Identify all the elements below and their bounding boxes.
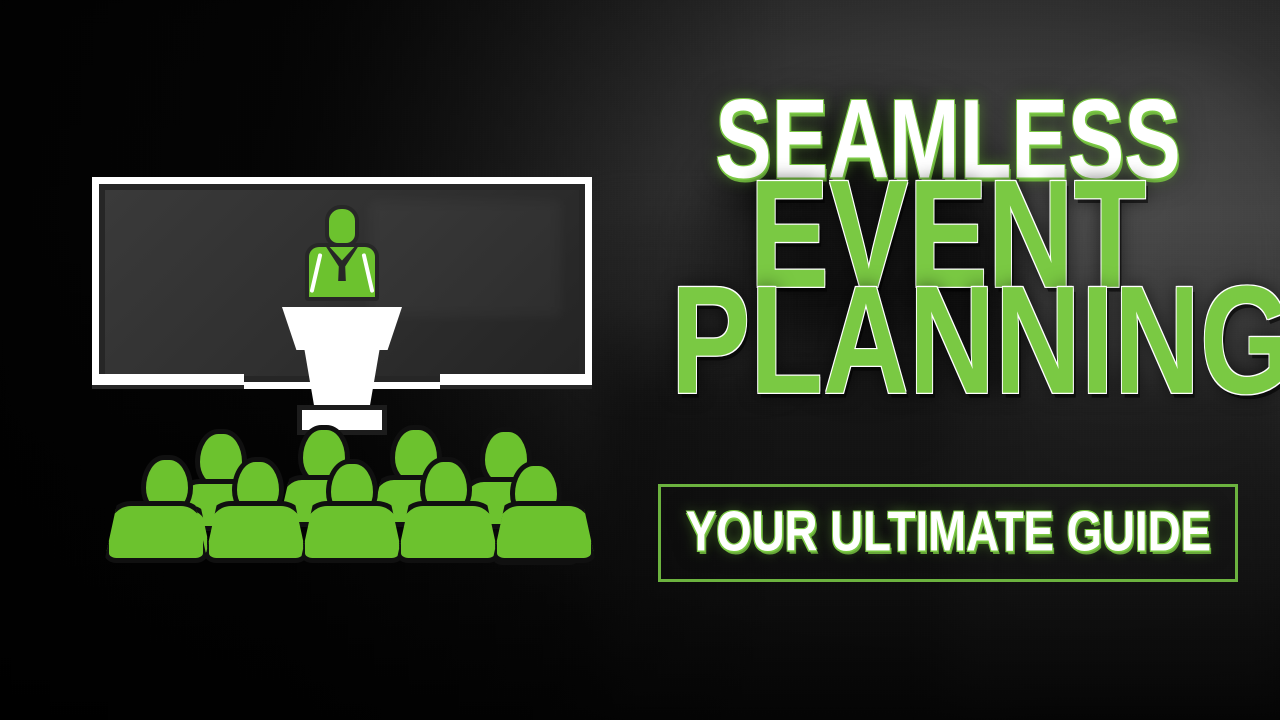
- speaker-figure: [299, 205, 385, 335]
- subtitle-frame: YOUR ULTIMATE GUIDE: [658, 484, 1238, 582]
- audience-body: [204, 501, 308, 563]
- audience-person: [104, 501, 208, 571]
- audience-body: [492, 501, 596, 563]
- audience-body: [396, 501, 500, 563]
- audience-body: [104, 501, 208, 563]
- headline-line-3: PLANNING: [671, 280, 1225, 403]
- audience-person: [492, 501, 596, 571]
- thumbnail-canvas: SEAMLESS EVENT PLANNING YOUR ULTIMATE GU…: [0, 0, 1280, 720]
- screen-base-right: [440, 374, 592, 389]
- speaker-head: [325, 205, 359, 247]
- podium-stem: [304, 347, 380, 409]
- screen-base-left: [92, 374, 244, 389]
- audience-person: [300, 501, 404, 571]
- subtitle-text: YOUR ULTIMATE GUIDE: [685, 505, 1210, 562]
- audience-group: [108, 425, 576, 585]
- headline-block: SEAMLESS EVENT PLANNING: [650, 96, 1246, 382]
- audience-body: [300, 501, 404, 563]
- conference-illustration: [92, 177, 592, 587]
- audience-person: [204, 501, 308, 571]
- audience-person: [396, 501, 500, 571]
